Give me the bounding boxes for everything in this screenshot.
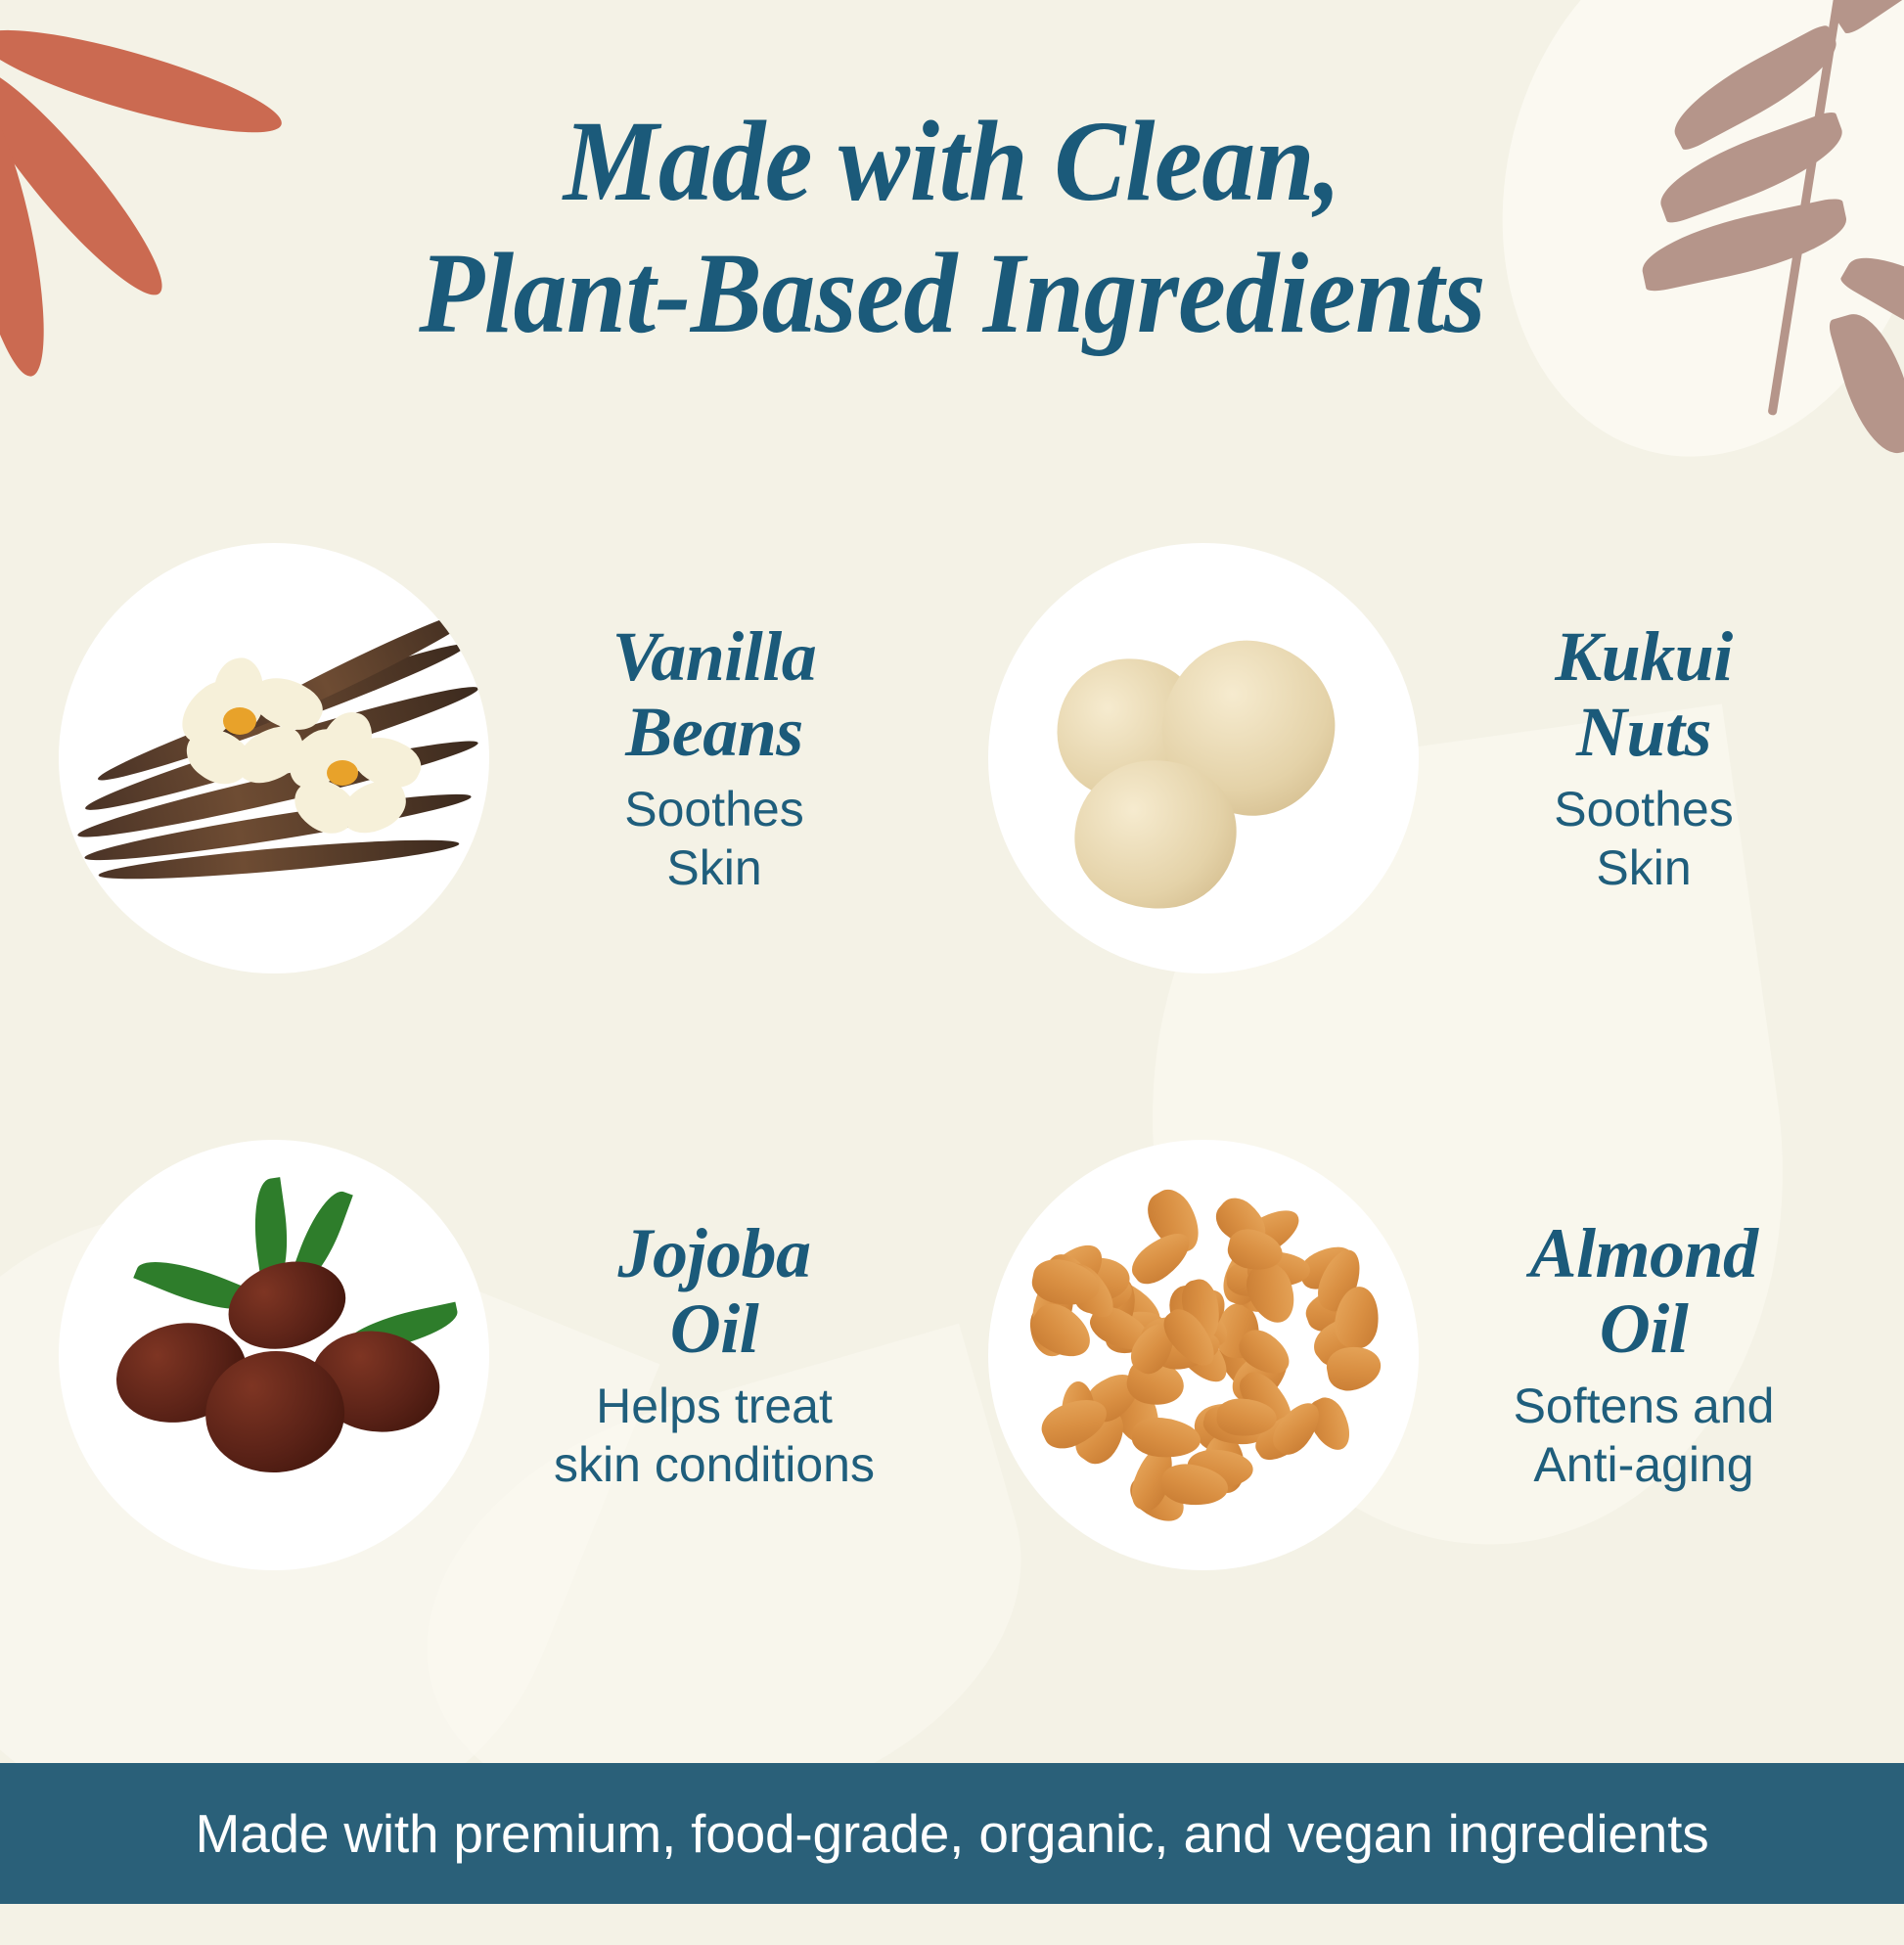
ingredient-card-jojoba-oil: Jojoba Oil Helps treat skin conditions — [59, 1125, 939, 1585]
ingredient-name: Jojoba — [499, 1216, 929, 1291]
infographic-canvas: Made with Clean, Plant-Based Ingredients — [0, 0, 1904, 1904]
vanilla-beans-image — [59, 543, 489, 973]
almond-oil-text: Almond Oil Softens and Anti-aging — [1419, 1216, 1869, 1494]
ingredient-card-vanilla-beans: Vanilla Beans Soothes Skin — [59, 528, 939, 988]
taupe-leaf-1 — [1819, 0, 1904, 37]
ingredient-name-2: Beans — [499, 695, 929, 770]
ingredient-desc-2: skin conditions — [499, 1435, 929, 1494]
taupe-leaf-5 — [1838, 238, 1904, 365]
jojoba-seeds-art — [59, 1140, 489, 1570]
jojoba-seeds-image — [59, 1140, 489, 1570]
taupe-leaf-6 — [1827, 305, 1904, 463]
ingredient-desc-2: Skin — [499, 838, 929, 897]
ingredient-name: Almond — [1428, 1216, 1859, 1291]
kukui-nuts-text: Kukui Nuts Soothes Skin — [1419, 619, 1869, 897]
ingredient-name-2: Nuts — [1428, 695, 1859, 770]
vanilla-beans-text: Vanilla Beans Soothes Skin — [489, 619, 939, 897]
ingredient-card-almond-oil: Almond Oil Softens and Anti-aging — [988, 1125, 1869, 1585]
ingredient-desc: Helps treat — [499, 1377, 929, 1435]
almonds-image — [988, 1140, 1419, 1570]
kukui-nuts-art — [988, 543, 1419, 973]
ingredient-name: Vanilla — [499, 619, 929, 695]
title-line-1: Made with Clean, — [67, 96, 1837, 228]
ingredient-desc-2: Anti-aging — [1428, 1435, 1859, 1494]
jojoba-oil-text: Jojoba Oil Helps treat skin conditions — [489, 1216, 939, 1494]
ingredient-desc: Softens and — [1428, 1377, 1859, 1435]
ingredient-name: Kukui — [1428, 619, 1859, 695]
almonds-art — [988, 1140, 1419, 1570]
ingredient-desc: Soothes — [499, 780, 929, 838]
footer-text: Made with premium, food-grade, organic, … — [195, 1802, 1708, 1865]
kukui-nuts-image — [988, 543, 1419, 973]
ingredient-name-2: Oil — [1428, 1291, 1859, 1367]
ingredient-grid: Vanilla Beans Soothes Skin Kukui Nuts So… — [0, 528, 1904, 1741]
ingredient-name-2: Oil — [499, 1291, 929, 1367]
vanilla-beans-art — [59, 543, 489, 973]
coral-frond-3 — [0, 83, 62, 383]
ingredient-card-kukui-nuts: Kukui Nuts Soothes Skin — [988, 528, 1869, 988]
footer-banner: Made with premium, food-grade, organic, … — [0, 1763, 1904, 1904]
page-title: Made with Clean, Plant-Based Ingredients — [67, 96, 1837, 359]
ingredient-desc: Soothes — [1428, 780, 1859, 838]
ingredient-desc-2: Skin — [1428, 838, 1859, 897]
title-line-2: Plant-Based Ingredients — [67, 228, 1837, 360]
almond-kernel — [1130, 1416, 1201, 1462]
